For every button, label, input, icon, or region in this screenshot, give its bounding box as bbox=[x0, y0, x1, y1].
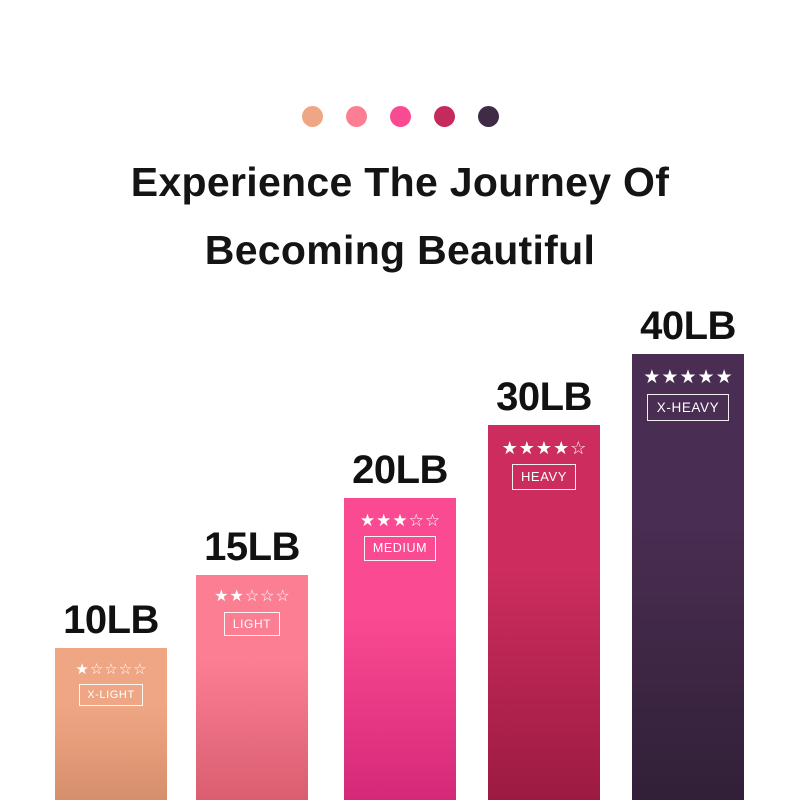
star-filled-icon: ★ bbox=[229, 589, 243, 605]
bar-group: 10LB★☆☆☆☆X-LIGHT bbox=[55, 588, 167, 800]
star-rating: ★★☆☆☆ bbox=[214, 589, 290, 605]
star-empty-icon: ☆ bbox=[119, 662, 132, 677]
resistance-level-badge: X-LIGHT bbox=[79, 684, 142, 706]
resistance-bar[interactable]: ★☆☆☆☆X-LIGHT bbox=[55, 648, 167, 800]
star-filled-icon: ★ bbox=[519, 439, 535, 457]
resistance-level-badge: LIGHT bbox=[224, 612, 279, 636]
bar-weight-label: 30LB bbox=[496, 377, 592, 417]
resistance-level-badge: MEDIUM bbox=[364, 536, 436, 561]
star-rating: ★☆☆☆☆ bbox=[75, 662, 146, 677]
bar-content: ★★★☆☆MEDIUM bbox=[344, 498, 456, 561]
bar-group: 40LB★★★★★X-HEAVY bbox=[632, 294, 744, 800]
resistance-level-badge: HEAVY bbox=[512, 464, 576, 490]
bar-content: ★☆☆☆☆X-LIGHT bbox=[55, 648, 167, 706]
resistance-bar[interactable]: ★★★☆☆MEDIUM bbox=[344, 498, 456, 800]
resistance-level-badge: X-HEAVY bbox=[647, 394, 728, 421]
bar-content: ★★★★★X-HEAVY bbox=[632, 354, 744, 421]
star-empty-icon: ☆ bbox=[245, 589, 259, 605]
bar-weight-label: 20LB bbox=[352, 450, 448, 490]
star-filled-icon: ★ bbox=[661, 368, 678, 387]
star-filled-icon: ★ bbox=[536, 439, 552, 457]
star-empty-icon: ☆ bbox=[425, 512, 440, 529]
bar-weight-label: 15LB bbox=[204, 527, 300, 567]
star-rating: ★★★★☆ bbox=[502, 439, 587, 457]
bar-weight-label: 10LB bbox=[63, 600, 159, 640]
star-empty-icon: ☆ bbox=[409, 512, 424, 529]
star-filled-icon: ★ bbox=[502, 439, 518, 457]
star-filled-icon: ★ bbox=[643, 368, 660, 387]
star-filled-icon: ★ bbox=[716, 368, 733, 387]
star-filled-icon: ★ bbox=[679, 368, 696, 387]
resistance-bar-chart: 10LB★☆☆☆☆X-LIGHT15LB★★☆☆☆LIGHT20LB★★★☆☆M… bbox=[0, 0, 800, 800]
star-filled-icon: ★ bbox=[392, 512, 407, 529]
bar-group: 15LB★★☆☆☆LIGHT bbox=[196, 515, 308, 800]
bar-content: ★★★★☆HEAVY bbox=[488, 425, 600, 490]
promo-graphic: Experience The Journey Of Becoming Beaut… bbox=[0, 0, 800, 800]
resistance-bar[interactable]: ★★★★☆HEAVY bbox=[488, 425, 600, 800]
star-filled-icon: ★ bbox=[75, 662, 88, 677]
star-rating: ★★★★★ bbox=[643, 368, 732, 387]
star-empty-icon: ☆ bbox=[104, 662, 117, 677]
bar-content: ★★☆☆☆LIGHT bbox=[196, 575, 308, 636]
star-empty-icon: ☆ bbox=[570, 439, 586, 457]
resistance-bar[interactable]: ★★☆☆☆LIGHT bbox=[196, 575, 308, 800]
star-filled-icon: ★ bbox=[376, 512, 391, 529]
star-empty-icon: ☆ bbox=[90, 662, 103, 677]
bar-group: 20LB★★★☆☆MEDIUM bbox=[344, 438, 456, 800]
resistance-bar[interactable]: ★★★★★X-HEAVY bbox=[632, 354, 744, 800]
star-filled-icon: ★ bbox=[553, 439, 569, 457]
star-empty-icon: ☆ bbox=[276, 589, 290, 605]
star-filled-icon: ★ bbox=[698, 368, 715, 387]
star-filled-icon: ★ bbox=[360, 512, 375, 529]
star-empty-icon: ☆ bbox=[133, 662, 146, 677]
star-rating: ★★★☆☆ bbox=[360, 512, 440, 529]
bar-weight-label: 40LB bbox=[640, 306, 736, 346]
bar-group: 30LB★★★★☆HEAVY bbox=[488, 365, 600, 800]
star-filled-icon: ★ bbox=[214, 589, 228, 605]
star-empty-icon: ☆ bbox=[260, 589, 274, 605]
